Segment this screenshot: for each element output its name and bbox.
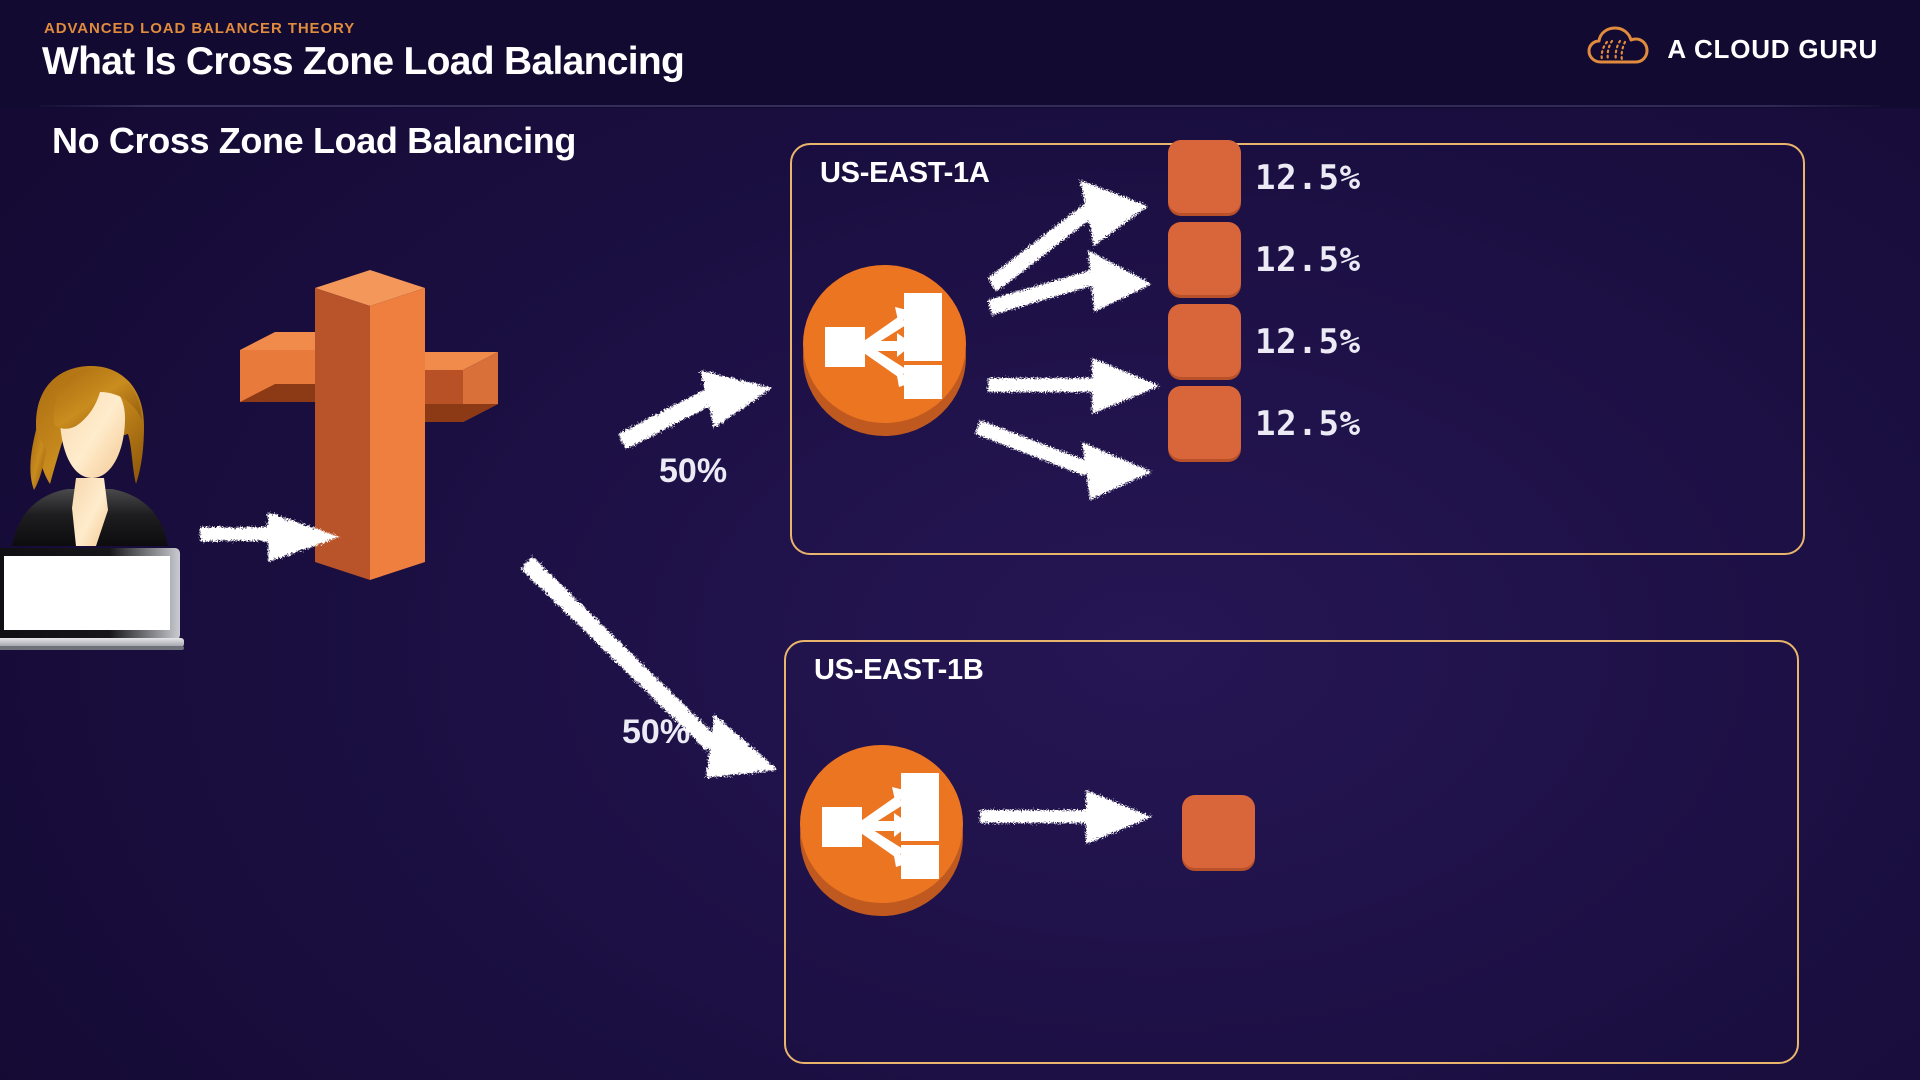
elb-circle-icon: [800, 745, 965, 915]
elastic-load-balancer-3d-icon: [230, 270, 510, 580]
split-percentage-az-b: 50%: [622, 713, 690, 752]
section-heading: No Cross Zone Load Balancing: [52, 120, 576, 162]
az-label: US-EAST-1B: [814, 654, 984, 687]
instance-percentage: 12.5%: [1255, 158, 1361, 198]
header-divider: [40, 105, 1880, 107]
ec2-instance[interactable]: [1168, 222, 1241, 295]
header-eyebrow: ADVANCED LOAD BALANCER THEORY: [44, 20, 355, 37]
ec2-instance[interactable]: [1168, 386, 1241, 459]
page-header: ADVANCED LOAD BALANCER THEORY What Is Cr…: [0, 0, 1920, 108]
instance-percentage: 12.5%: [1255, 240, 1361, 280]
instance-percentage: 12.5%: [1255, 322, 1361, 362]
ec2-instance[interactable]: [1168, 304, 1241, 377]
elb-circle-icon: [803, 265, 968, 435]
az-label: US-EAST-1A: [820, 157, 990, 190]
cloud-outline-icon: [1587, 26, 1649, 73]
ec2-instance[interactable]: [1168, 140, 1241, 213]
arrow-lb-to-az-a: [618, 370, 772, 449]
brand-logo: A CLOUD GURU: [1587, 26, 1878, 73]
page-title: What Is Cross Zone Load Balancing: [42, 40, 684, 84]
logo-text: A CLOUD GURU: [1667, 34, 1878, 65]
ec2-instance[interactable]: [1182, 795, 1255, 868]
instance-percentage: 12.5%: [1255, 404, 1361, 444]
user-with-laptop-icon: [0, 350, 192, 650]
split-percentage-az-a: 50%: [659, 452, 727, 491]
